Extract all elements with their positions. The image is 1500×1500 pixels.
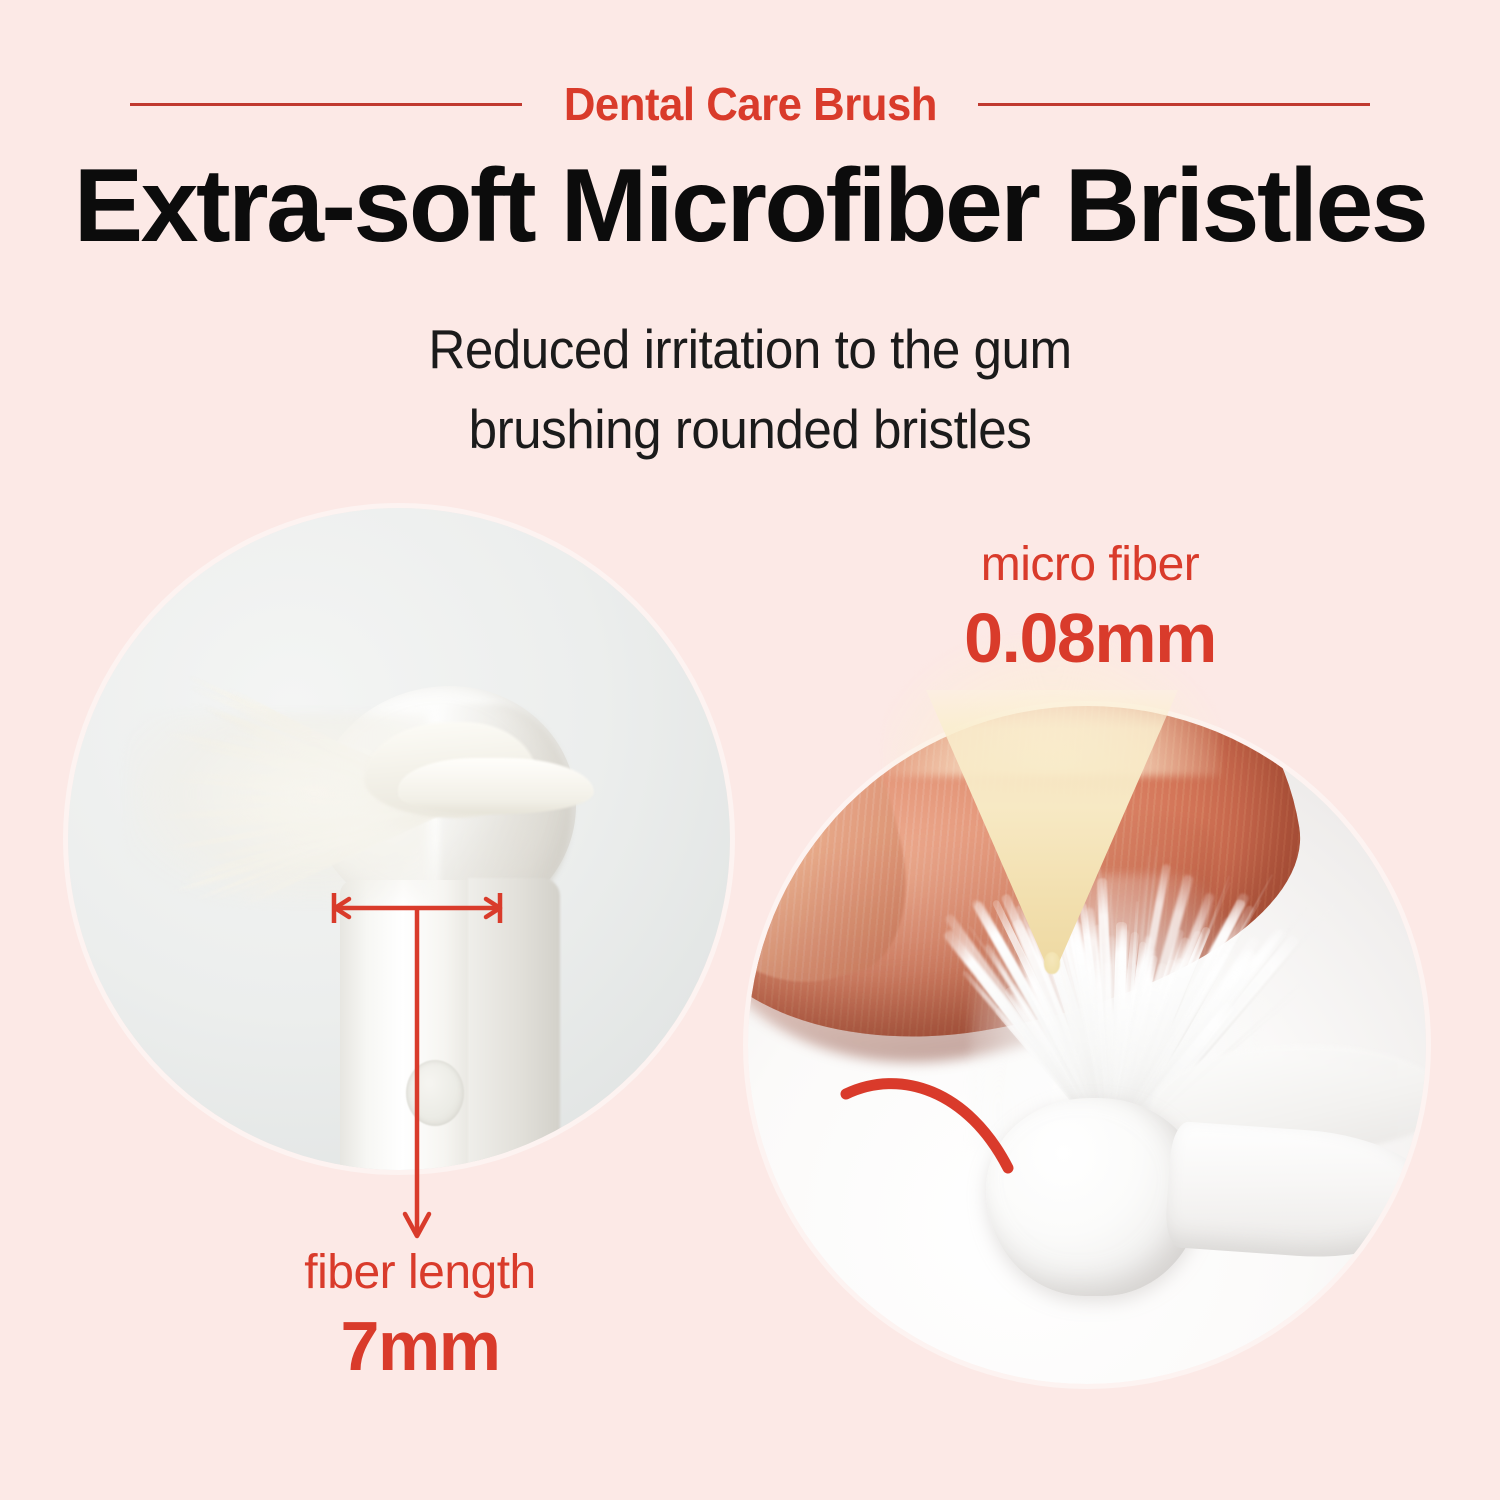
micro-fiber-callout: micro fiber 0.08mm xyxy=(895,540,1285,675)
subtitle-line-2: brushing rounded bristles xyxy=(53,390,1448,470)
eyebrow-rule-right xyxy=(978,103,1370,106)
photo-brush-head-circle xyxy=(68,508,730,1170)
fiber-length-callout: fiber length 7mm xyxy=(230,1248,610,1383)
infographic-canvas: Dental Care Brush Extra-soft Microfiber … xyxy=(0,0,1500,1500)
curved-arrow-icon xyxy=(840,1050,1060,1200)
micro-fiber-label: micro fiber xyxy=(895,540,1285,591)
fiber-length-value: 7mm xyxy=(230,1309,610,1383)
magnifier-cone-tip xyxy=(1044,952,1060,974)
brush-arm xyxy=(1164,1121,1426,1265)
bristle-tuft-lower xyxy=(398,758,594,814)
micro-fiber-value: 0.08mm xyxy=(895,601,1285,675)
subtitle-line-1: Reduced irritation to the gum xyxy=(53,310,1448,390)
eyebrow-row: Dental Care Brush xyxy=(0,74,1500,134)
brush-handle-dot xyxy=(406,1060,464,1126)
brush-neck-shading xyxy=(468,878,560,1170)
page-subtitle: Reduced irritation to the gum brushing r… xyxy=(53,310,1448,470)
eyebrow-rule-left xyxy=(130,103,522,106)
fiber-length-label: fiber length xyxy=(230,1248,610,1299)
page-title: Extra-soft Microfiber Bristles xyxy=(0,152,1500,261)
eyebrow-text: Dental Care Brush xyxy=(563,77,936,131)
